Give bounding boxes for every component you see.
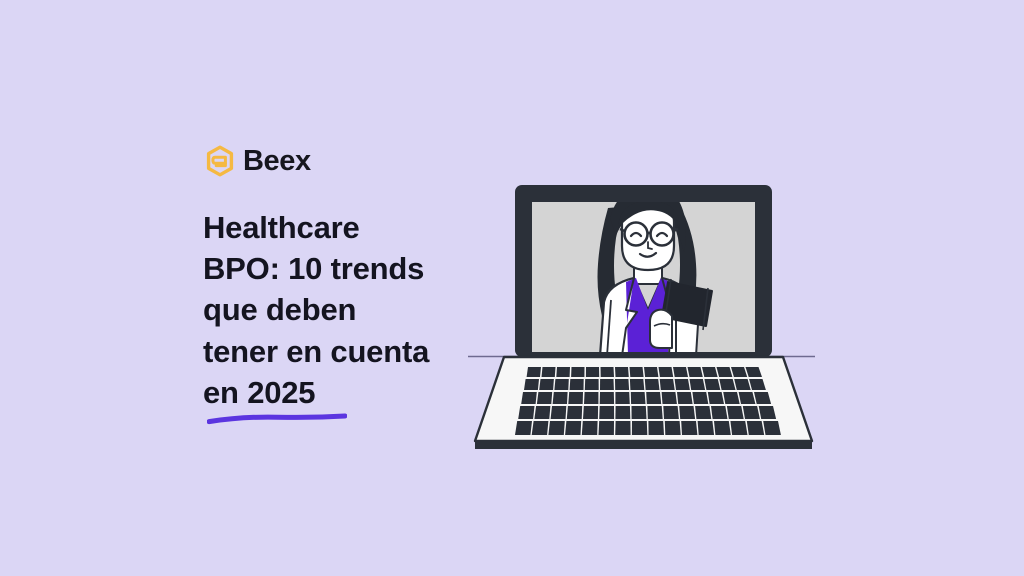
headline-underline-stroke xyxy=(207,412,347,424)
hand xyxy=(650,310,672,348)
laptop-lid xyxy=(515,185,772,357)
hero-card: Beex Healthcare BPO: 10 trends que deben… xyxy=(0,0,1024,576)
brand-name: Beex xyxy=(243,147,311,176)
beex-hexagon-logo-icon xyxy=(203,144,237,178)
doctor-on-laptop-illustration xyxy=(440,160,860,470)
